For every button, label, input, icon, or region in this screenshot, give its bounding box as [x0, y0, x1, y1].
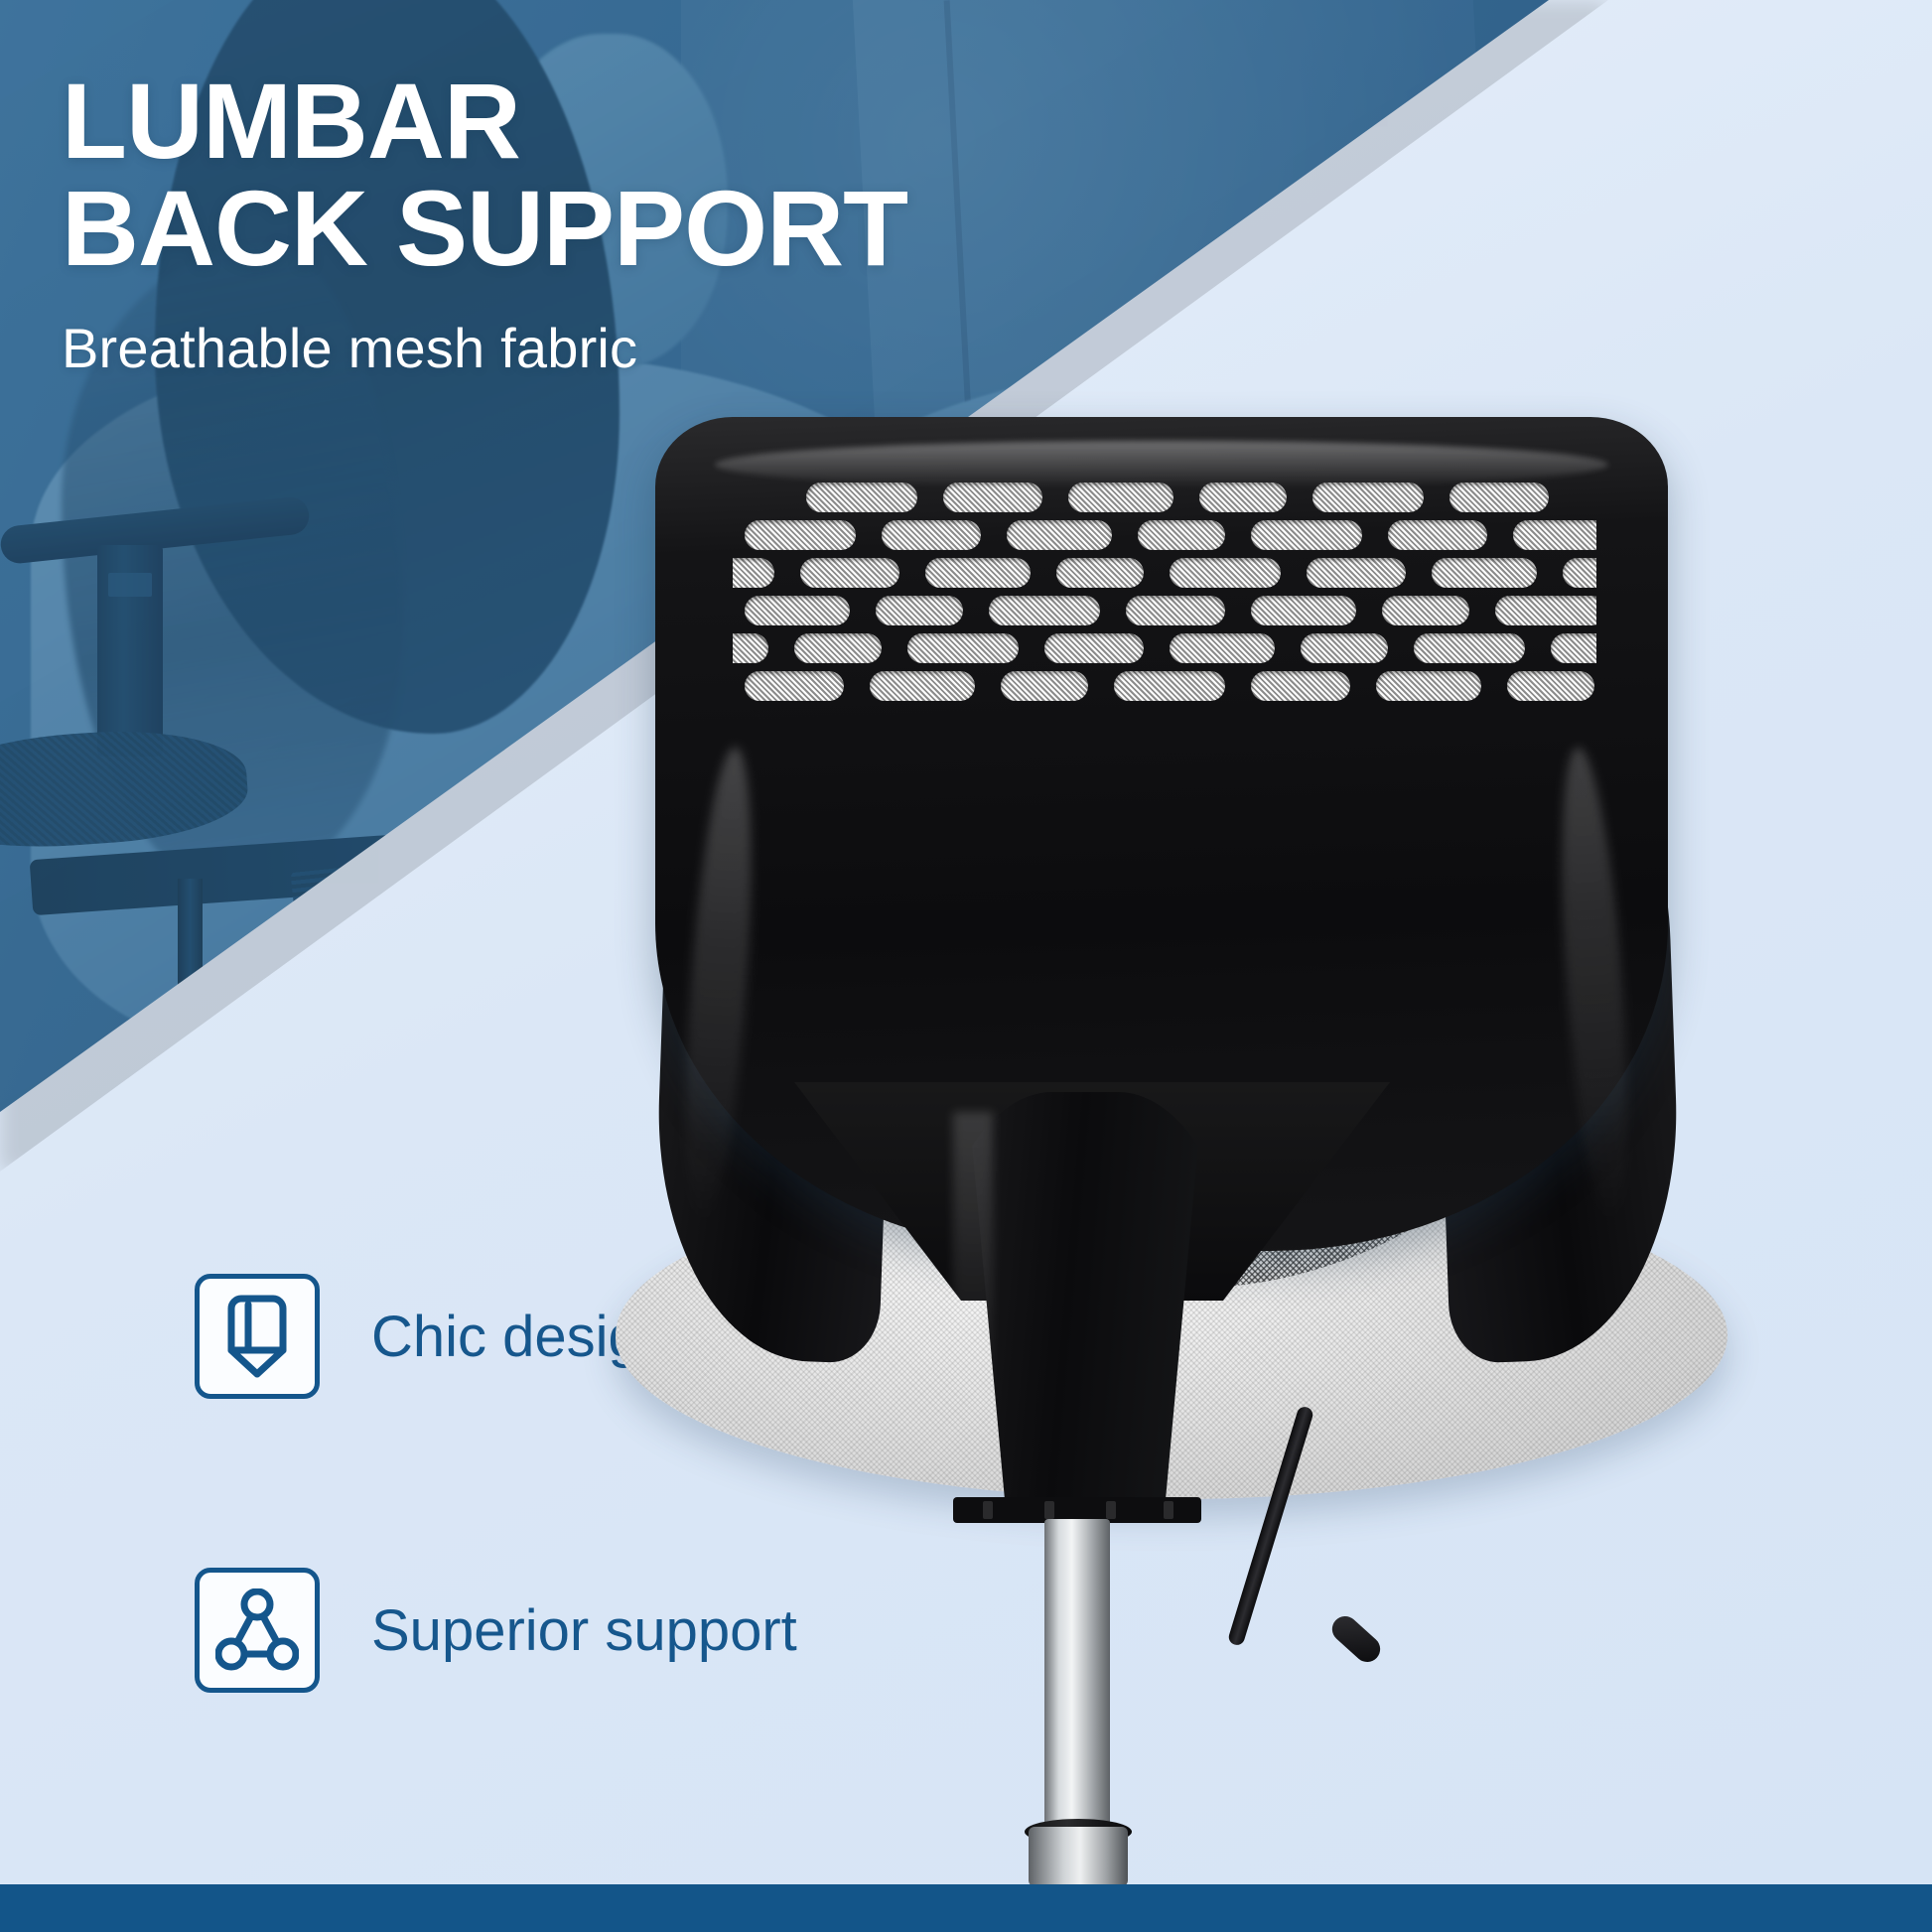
vent-slot: [870, 671, 975, 701]
vent-slot: [1251, 671, 1350, 701]
gas-cylinder: [1044, 1519, 1110, 1847]
vent-row: [733, 520, 1596, 554]
vent-slot: [1001, 671, 1088, 701]
vent-row: [733, 483, 1596, 516]
vent-slot: [1301, 633, 1388, 663]
vent-slot: [794, 633, 882, 663]
vent-slot: [1507, 671, 1594, 701]
vent-slot: [806, 483, 917, 512]
vent-slot: [943, 483, 1042, 512]
vent-slot: [1449, 483, 1549, 512]
vent-slot: [1138, 520, 1225, 550]
vent-slot: [907, 633, 1019, 663]
column-foot-slot: [983, 1501, 993, 1519]
vent-slot: [1382, 596, 1469, 625]
page-title: LUMBAR BACK SUPPORT: [62, 68, 1035, 282]
vent-slot: [1251, 520, 1362, 550]
column-highlight: [953, 1112, 993, 1440]
vent-slot: [1513, 520, 1596, 550]
vent-slot: [1388, 520, 1487, 550]
column-foot-slot: [1044, 1501, 1054, 1519]
vent-slot: [1551, 633, 1596, 663]
backrest-highlight: [715, 441, 1608, 488]
headline-line-2: BACK SUPPORT: [62, 168, 907, 288]
vent-row: [733, 671, 1596, 705]
column-foot-slot: [1164, 1501, 1173, 1519]
lever-handle-tip[interactable]: [1326, 1611, 1385, 1668]
vent-row: [733, 596, 1596, 629]
vent-slot: [1056, 558, 1144, 588]
headline-block: LUMBAR BACK SUPPORT Breathable mesh fabr…: [62, 68, 1035, 380]
column-foot-slot: [1106, 1501, 1116, 1519]
vent-row: [733, 558, 1596, 592]
vent-slot: [989, 596, 1100, 625]
footer-bar: [0, 1884, 1932, 1932]
vent-slot: [1044, 633, 1144, 663]
vent-row: [733, 633, 1596, 667]
vent-slot: [876, 596, 963, 625]
vent-slot: [1376, 671, 1481, 701]
vent-slot: [1114, 671, 1225, 701]
headline-line-1: LUMBAR: [62, 61, 520, 181]
vent-slot: [800, 558, 899, 588]
vent-slot: [745, 596, 850, 625]
vent-slot: [1432, 558, 1537, 588]
promo-banner: LUMBAR BACK SUPPORT Breathable mesh fabr…: [0, 0, 1932, 1932]
vent-slot: [1495, 596, 1596, 625]
vent-slot: [1307, 558, 1406, 588]
vent-slot: [1312, 483, 1424, 512]
headline-subtitle: Breathable mesh fabric: [62, 316, 1035, 380]
vent-slot: [1007, 520, 1112, 550]
vent-slot: [745, 671, 844, 701]
backrest-vent-slots: [733, 483, 1596, 711]
pencil-icon: [195, 1274, 320, 1399]
vent-slot: [1414, 633, 1525, 663]
vent-slot: [1251, 596, 1356, 625]
vent-slot: [1563, 558, 1596, 588]
vent-slot: [733, 558, 774, 588]
vent-slot: [1199, 483, 1287, 512]
product-chair-image: [655, 397, 1932, 1932]
vent-slot: [882, 520, 981, 550]
gas-cylinder-collar: [1029, 1827, 1128, 1886]
vent-slot: [1170, 633, 1275, 663]
triangle-network-icon: [195, 1568, 320, 1693]
vent-slot: [1068, 483, 1173, 512]
vent-slot: [1126, 596, 1225, 625]
vent-slot: [925, 558, 1031, 588]
vent-slot: [1170, 558, 1281, 588]
vent-slot: [733, 633, 768, 663]
vent-slot: [745, 520, 856, 550]
